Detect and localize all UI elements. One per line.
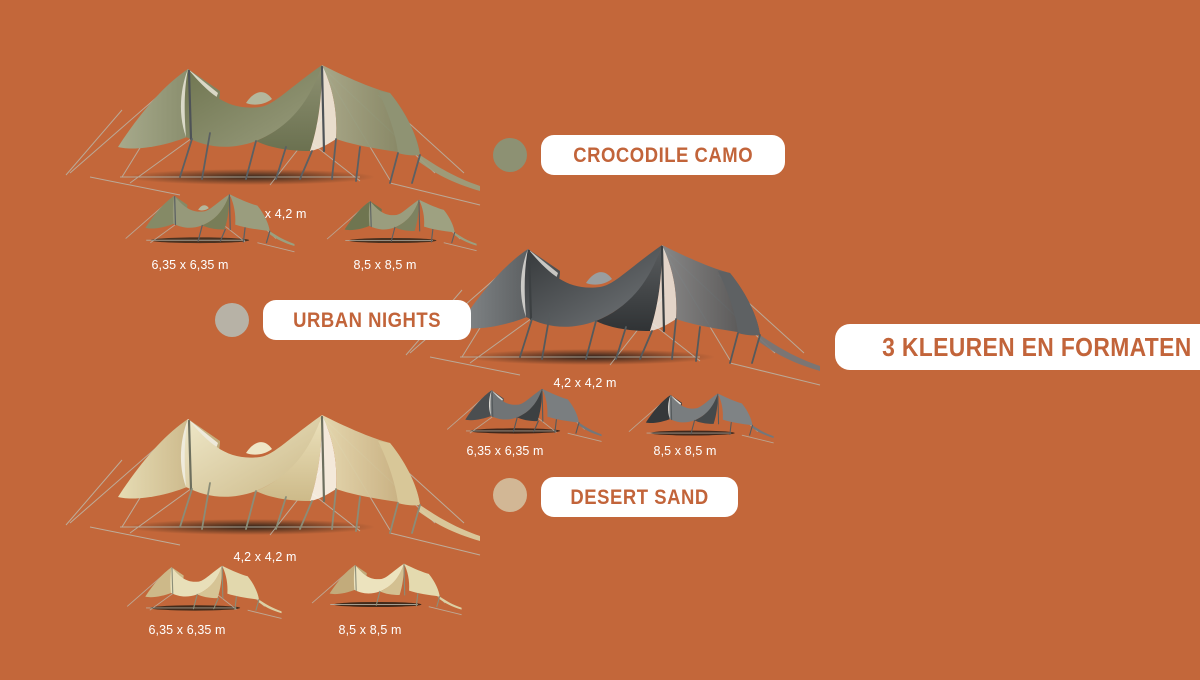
tent-illustration xyxy=(118,190,298,260)
tent-desert-sand-small-635 xyxy=(120,562,285,626)
tent-crocodile-camo-small-635 xyxy=(118,190,298,260)
tent-illustration xyxy=(120,562,285,626)
label-desert-sand[interactable]: DESERT SAND xyxy=(541,477,738,517)
swatch-desert-sand xyxy=(493,478,527,512)
tent-desert-sand-small-85 xyxy=(305,560,465,622)
swatch-urban-nights xyxy=(215,303,249,337)
size-label-desert-85: 8,5 x 8,5 m xyxy=(305,623,435,637)
tent-illustration xyxy=(622,390,777,450)
tent-illustration xyxy=(305,560,465,622)
label-crocodile-camo-text: CROCODILE CAMO xyxy=(573,145,753,166)
swatch-crocodile-camo xyxy=(493,138,527,172)
poster-canvas: 4,2 x 4,2 m 6,35 x 6,35 m xyxy=(0,0,1200,680)
size-label-desert-635: 6,35 x 6,35 m xyxy=(112,623,262,637)
size-label-urban-85: 8,5 x 8,5 m xyxy=(620,444,750,458)
headline-badge[interactable]: 3 KLEUREN EN FORMATEN xyxy=(835,324,1200,370)
tent-urban-nights-small-85 xyxy=(622,390,777,450)
label-urban-nights-text: URBAN NIGHTS xyxy=(293,310,441,331)
headline-badge-text: 3 KLEUREN EN FORMATEN xyxy=(882,334,1192,360)
label-urban-nights[interactable]: URBAN NIGHTS xyxy=(263,300,471,340)
label-desert-sand-text: DESERT SAND xyxy=(570,487,708,508)
label-crocodile-camo[interactable]: CROCODILE CAMO xyxy=(541,135,785,175)
size-label-crocodile-635: 6,35 x 6,35 m xyxy=(115,258,265,272)
